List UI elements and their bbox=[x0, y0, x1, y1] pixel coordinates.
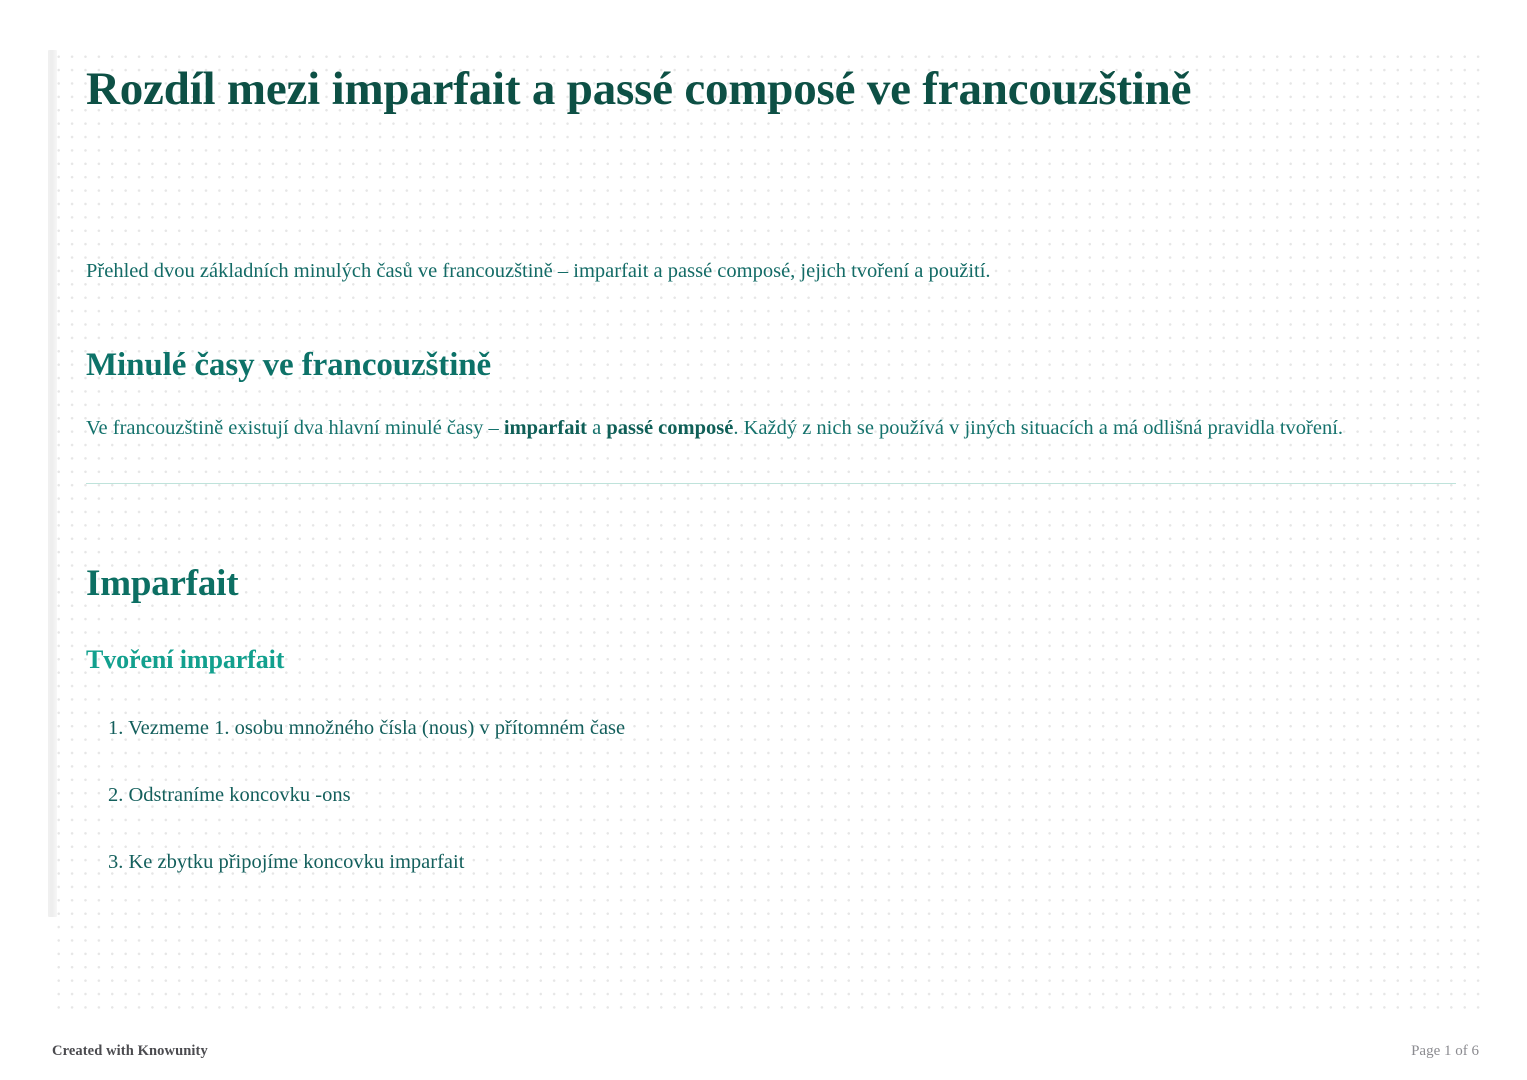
section-heading-minule-casy: Minulé časy ve francouzštině bbox=[86, 347, 1458, 384]
footer-page-indicator: Page 1 of 6 bbox=[1411, 1043, 1479, 1060]
paragraph-text-before: Ve francouzštině existují dva hlavní min… bbox=[86, 417, 504, 439]
list-item: 1. Vezmeme 1. osobu množného čísla (nous… bbox=[86, 713, 1458, 744]
document-content: Rozdíl mezi imparfait a passé composé ve… bbox=[86, 62, 1458, 117]
section-imparfait: Imparfait Tvoření imparfait 1. Vezmeme 1… bbox=[86, 562, 1458, 913]
document-subtitle: Přehled dvou základních minulých časů ve… bbox=[86, 256, 991, 287]
subsection-heading-tvoreni-imparfait: Tvoření imparfait bbox=[86, 645, 1458, 675]
document-page: Rozdíl mezi imparfait a passé composé ve… bbox=[0, 0, 1527, 1080]
footer-created-with: Created with Knowunity bbox=[52, 1043, 208, 1060]
left-accent-rail bbox=[48, 50, 57, 917]
paragraph-text-after: . Každý z nich se používá v jiných situa… bbox=[733, 417, 1343, 439]
section-minule-casy: Minulé časy ve francouzštině Ve francouz… bbox=[86, 347, 1458, 484]
section-paragraph-minule-casy: Ve francouzštině existují dva hlavní min… bbox=[86, 412, 1418, 445]
term-imparfait: imparfait bbox=[504, 417, 587, 439]
list-item: 2. Odstraníme koncovku -ons bbox=[86, 780, 1458, 811]
section-heading-imparfait: Imparfait bbox=[86, 562, 1458, 605]
steps-list: 1. Vezmeme 1. osobu množného čísla (nous… bbox=[86, 713, 1458, 877]
section-divider bbox=[86, 483, 1456, 484]
list-item: 3. Ke zbytku připojíme koncovku imparfai… bbox=[86, 847, 1458, 878]
page-title: Rozdíl mezi imparfait a passé composé ve… bbox=[86, 62, 1206, 117]
term-passe-compose: passé composé bbox=[606, 417, 733, 439]
paragraph-text-middle: a bbox=[587, 417, 606, 439]
